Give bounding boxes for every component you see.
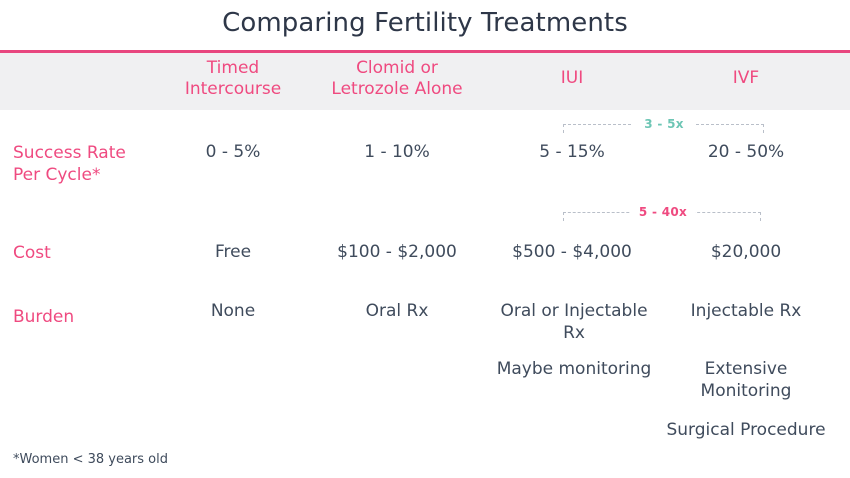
bracket-segment-left (563, 124, 641, 125)
column-header-ivf: IVF (666, 68, 826, 89)
bracket-tick-right (763, 124, 764, 133)
footnote: *Women < 38 years old (13, 452, 168, 467)
column-header-line-1: IUI (492, 68, 652, 89)
cell-burden-ivf-procedure: Surgical Procedure (666, 419, 826, 441)
column-header-clomid-letrozole: Clomid or Letrozole Alone (307, 58, 487, 101)
column-header-line-1: Clomid or (307, 58, 487, 79)
column-header-line-1: Timed (153, 58, 313, 79)
bracket-segment-right (687, 212, 761, 213)
cell-cost-timed-intercourse: Free (153, 241, 313, 263)
row-label-line-2: Per Cycle* (13, 164, 126, 186)
row-label-success-rate: Success Rate Per Cycle* (13, 142, 126, 186)
bracket-cost-multiplier: 5 - 40x (563, 212, 761, 228)
bracket-tick-right (760, 212, 761, 221)
cell-success-rate-timed-intercourse: 0 - 5% (153, 141, 313, 163)
cell-success-rate-ivf: 20 - 50% (666, 141, 826, 163)
cell-cost-clomid: $100 - $2,000 (307, 241, 487, 263)
column-header-timed-intercourse: Timed Intercourse (153, 58, 313, 101)
bracket-label-cost: 5 - 40x (631, 204, 695, 220)
column-header-line-2: Intercourse (153, 79, 313, 100)
cell-burden-ivf-rx: Injectable Rx (666, 300, 826, 322)
cell-burden-iui-monitoring: Maybe monitoring (488, 358, 660, 380)
row-label-cost: Cost (13, 242, 51, 264)
row-label-burden: Burden (13, 306, 74, 328)
bracket-tick-left (563, 124, 564, 133)
bracket-segment-left (563, 212, 639, 213)
page-title: Comparing Fertility Treatments (0, 8, 850, 39)
bracket-label-success-rate: 3 - 5x (633, 116, 695, 132)
column-header-iui: IUI (492, 68, 652, 89)
bracket-success-rate-multiplier: 3 - 5x (563, 124, 764, 140)
bracket-segment-right (686, 124, 764, 125)
cell-success-rate-iui: 5 - 15% (492, 141, 652, 163)
column-header-line-2: Letrozole Alone (307, 79, 487, 100)
cell-cost-ivf: $20,000 (666, 241, 826, 263)
cell-burden-iui-rx: Oral or Injectable Rx (488, 300, 660, 345)
cell-burden-ivf-monitoring: Extensive Monitoring (666, 358, 826, 403)
row-label-line-1: Success Rate (13, 142, 126, 164)
row-label-line-1: Burden (13, 306, 74, 328)
cell-burden-timed-intercourse: None (153, 300, 313, 322)
cell-success-rate-clomid: 1 - 10% (307, 141, 487, 163)
row-label-line-1: Cost (13, 242, 51, 264)
cell-cost-iui: $500 - $4,000 (487, 241, 657, 263)
bracket-tick-left (563, 212, 564, 221)
cell-burden-clomid: Oral Rx (307, 300, 487, 322)
column-header-line-1: IVF (666, 68, 826, 89)
